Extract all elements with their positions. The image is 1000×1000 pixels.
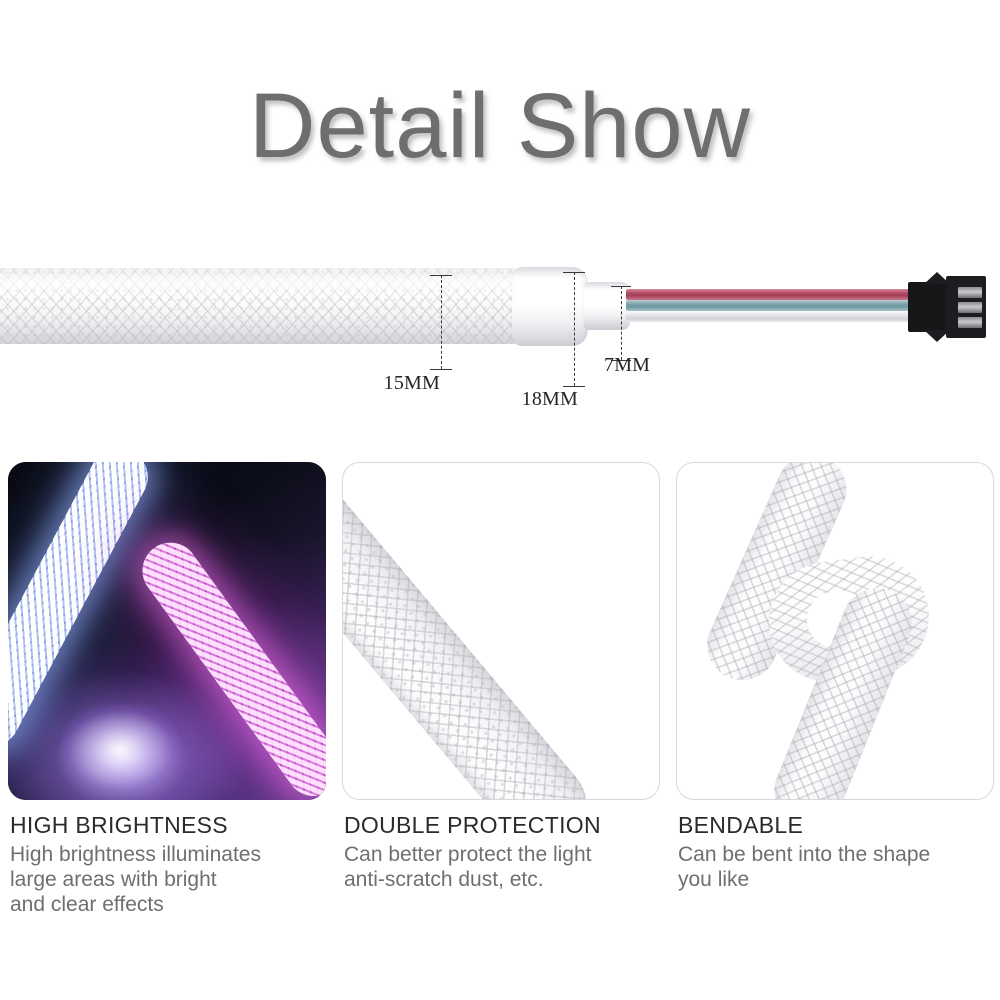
caption-title-bendable: BENDABLE — [678, 812, 1000, 838]
measure-18mm-line — [574, 272, 575, 386]
connector-pin-1 — [958, 287, 982, 298]
measure-7mm-line — [621, 286, 622, 360]
connector-body — [908, 282, 950, 332]
wire-bundle — [626, 289, 916, 323]
measure-15mm-line — [441, 275, 442, 369]
measure-18mm-cap-bottom — [563, 386, 585, 387]
3-pin-connector — [908, 272, 986, 342]
caption-body-line: and clear effects — [10, 893, 336, 918]
page-title: Detail Show — [0, 78, 1000, 175]
wire-red — [626, 289, 916, 300]
caption-body-line: large areas with bright — [10, 868, 336, 893]
caption-title-high-brightness: HIGH BRIGHTNESS — [10, 812, 336, 838]
measure-18mm-label: 18MM — [298, 388, 578, 411]
white-braided-sleeve-closeup — [342, 462, 604, 800]
caption-high-brightness: HIGH BRIGHTNESS High brightness illumina… — [10, 812, 336, 918]
connector-notch-bottom — [924, 330, 950, 342]
product-detail-page: Detail Show 15MM 18MM — [0, 0, 1000, 1000]
measure-15mm-cap-bottom — [430, 369, 452, 370]
feature-captions: HIGH BRIGHTNESS High brightness illumina… — [0, 812, 1000, 942]
light-hotspot — [60, 704, 180, 796]
wire-teal — [626, 300, 916, 311]
caption-double-protection: DOUBLE PROTECTION Can better protect the… — [344, 812, 670, 893]
feature-image-double-protection — [342, 462, 660, 800]
white-collar-ferrule — [512, 267, 588, 346]
caption-title-double-protection: DOUBLE PROTECTION — [344, 812, 670, 838]
white-inner-tube — [584, 282, 630, 330]
feature-panels — [0, 462, 1000, 812]
caption-body-bendable: Can be bent into the shape you like — [678, 843, 1000, 893]
caption-body-double-protection: Can better protect the light anti-scratc… — [344, 843, 670, 893]
wire-white — [626, 311, 916, 322]
caption-bendable: BENDABLE Can be bent into the shape you … — [678, 812, 1000, 893]
caption-body-line: High brightness illuminates — [10, 843, 336, 868]
caption-body-line: Can better protect the light — [344, 843, 670, 868]
feature-image-bendable — [676, 462, 994, 800]
caption-body-high-brightness: High brightness illuminates large areas … — [10, 843, 336, 917]
connector-pin-3 — [958, 317, 982, 328]
knotted-cable — [677, 463, 993, 799]
connector-notch-top — [924, 272, 950, 284]
connector-pin-2 — [958, 302, 982, 313]
hero-cable-diagram: 15MM 18MM 7MM — [0, 250, 1000, 410]
caption-body-line: anti-scratch dust, etc. — [344, 868, 670, 893]
feature-image-high-brightness — [8, 462, 326, 800]
caption-body-line: you like — [678, 868, 1000, 893]
measure-7mm-label: 7MM — [604, 354, 650, 377]
caption-body-line: Can be bent into the shape — [678, 843, 1000, 868]
